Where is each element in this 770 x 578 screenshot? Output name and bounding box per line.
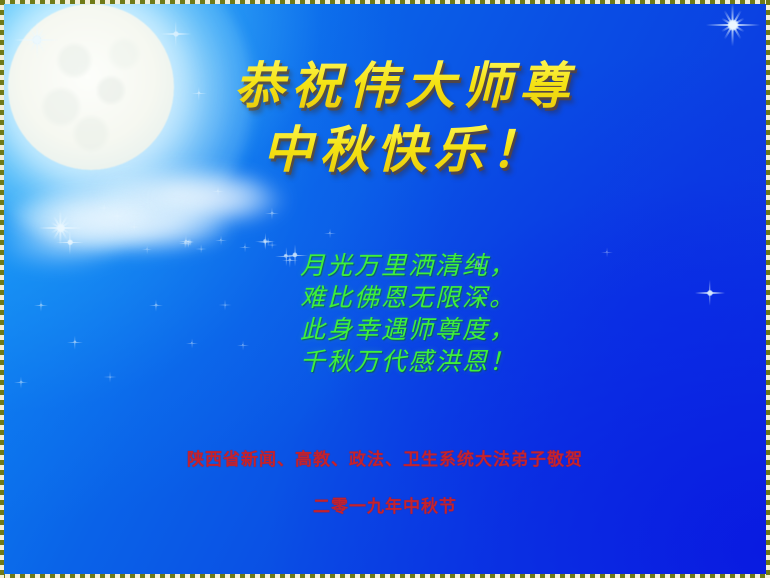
greeting-card: 恭祝伟大师尊 中秋快乐！ 月光万里洒清纯， 难比佛恩无限深。 此身幸遇师尊度， … <box>0 0 770 578</box>
poem-line-4: 千秋万代感洪恩！ <box>300 346 600 378</box>
title-line-2: 中秋快乐！ <box>170 120 640 180</box>
title-block: 恭祝伟大师尊 中秋快乐！ <box>170 56 640 180</box>
poem-line-2: 难比佛恩无限深。 <box>300 282 600 314</box>
poem-block: 月光万里洒清纯， 难比佛恩无限深。 此身幸遇师尊度， 千秋万代感洪恩！ <box>300 250 600 378</box>
full-moon <box>8 4 174 170</box>
title-line-1: 恭祝伟大师尊 <box>170 56 640 116</box>
poem-line-1: 月光万里洒清纯， <box>300 250 600 282</box>
signature-block: 陕西省新闻、高教、政法、卫生系统大法弟子敬贺 二零一九年中秋节 <box>0 448 770 519</box>
signature-line-1: 陕西省新闻、高教、政法、卫生系统大法弟子敬贺 <box>0 448 770 472</box>
signature-line-2: 二零一九年中秋节 <box>0 495 770 519</box>
poem-line-3: 此身幸遇师尊度， <box>300 314 600 346</box>
